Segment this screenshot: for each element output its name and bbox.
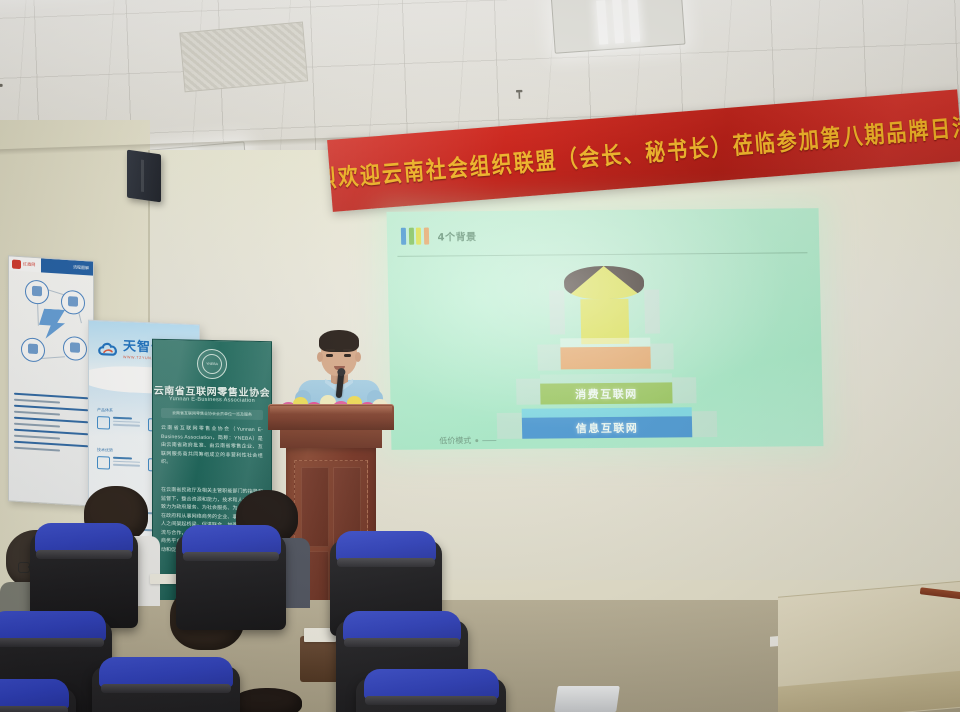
- poster-flow-diagram: [13, 275, 89, 390]
- flow-node: [21, 337, 45, 363]
- pyramid-tier-side: [672, 377, 697, 403]
- feature-icon: [97, 416, 110, 430]
- presenter-ear: [355, 352, 361, 362]
- projection-screen: 4个背景 消费互联网: [386, 208, 823, 450]
- poster-body-text-lines: [14, 393, 88, 458]
- annotation-text: 低价模式: [439, 435, 471, 446]
- poster-header: 红盾网 流程图解: [9, 256, 93, 275]
- pyramid-diagram: 消费互联网 信息互联网 低价模式 信息门户: [387, 254, 823, 444]
- ceiling-light-panel: [551, 0, 686, 54]
- pyramid-top-wing-right: [644, 290, 660, 334]
- presenter-hair: [319, 330, 359, 352]
- auditorium-seat: [0, 688, 76, 712]
- pyramid-tier-label: [560, 347, 650, 370]
- projected-slide: 4个背景 消费互联网: [386, 208, 823, 450]
- pyramid-tier-orange: [560, 338, 651, 370]
- slide-accent-bars-icon: [401, 228, 429, 245]
- podium-top: [268, 404, 394, 430]
- slide-title: 4个背景: [437, 228, 476, 243]
- feature-cell: [97, 416, 140, 431]
- poster-logo-icon: [12, 259, 21, 269]
- sprinkler-head: [516, 90, 523, 99]
- pyramid-tier-blue: 信息互联网: [522, 407, 693, 438]
- presenter-ear: [317, 352, 323, 362]
- podium-neck: [280, 430, 382, 448]
- presenter-eyebrow: [326, 349, 335, 351]
- cloud-icon: [97, 341, 119, 358]
- pyramid-tier-label: 消费互联网: [540, 382, 672, 404]
- presenter-eye: [326, 354, 333, 357]
- pyramid-tier-side: [650, 343, 674, 369]
- ceiling-air-vent: [179, 22, 308, 93]
- laptop: [554, 686, 620, 712]
- pyramid-tier-side: [692, 411, 718, 437]
- pyramid-top-wing-left: [549, 290, 565, 334]
- seat-writing-tablet: [300, 636, 340, 682]
- flow-node: [61, 290, 85, 316]
- pyramid-tier-side: [537, 344, 561, 370]
- pyramid-tier-side: [516, 379, 541, 405]
- pyramid-tier-green: 消费互联网: [540, 373, 673, 404]
- presenter-eye: [344, 354, 351, 357]
- slide-title-row: 4个背景: [401, 227, 477, 245]
- poster-brand: 红盾网: [23, 261, 36, 268]
- sprinkler-head: [0, 84, 3, 95]
- presenter-eyebrow: [343, 349, 352, 351]
- flow-node: [25, 279, 49, 305]
- auditorium-seat: [92, 666, 240, 712]
- conference-hall-photo: 热烈欢迎云南社会组织联盟（会长、秘书长）莅临参加第八期品牌日活动 4个背景: [0, 0, 960, 712]
- pyramid-tier-label: 信息互联网: [522, 416, 692, 438]
- documents-on-tablet: [150, 574, 178, 584]
- audience-person-head: [232, 688, 302, 712]
- poster-header-label: 流程图解: [73, 264, 89, 271]
- pyramid-tier-arrow: [564, 266, 646, 345]
- pyramid-annotation-left: 低价模式: [439, 435, 496, 446]
- wall-poster-flowchart: 红盾网 流程图解: [8, 255, 94, 506]
- audience-area: [0, 470, 960, 712]
- auditorium-seat: [176, 534, 286, 630]
- wall-mounted-speaker: [127, 150, 161, 203]
- feature-cell: [97, 456, 140, 471]
- pyramid-tier-side: [497, 413, 523, 439]
- feature-icon: [97, 456, 110, 470]
- flow-node: [63, 336, 87, 362]
- auditorium-seat: [356, 678, 506, 712]
